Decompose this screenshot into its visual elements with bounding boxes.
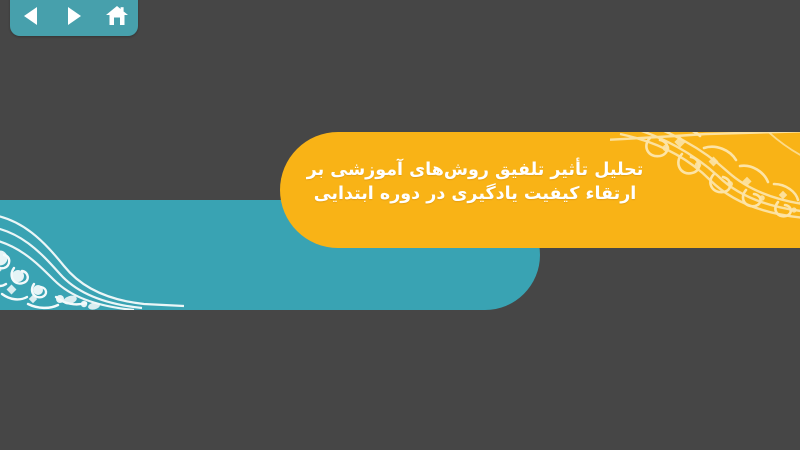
slide-title: تحلیل تأثیر تلفیق روش‌های آموزشی بر ارتق… — [300, 158, 650, 206]
slide-canvas: تحلیل تأثیر تلفیق روش‌های آموزشی بر ارتق… — [0, 0, 800, 450]
slide-title-line-2: ارتقاء کیفیت یادگیری در دوره ابتدایی — [300, 182, 650, 206]
navigation-bar — [10, 0, 138, 36]
triangle-left-icon — [22, 6, 40, 26]
home-button[interactable] — [102, 2, 132, 30]
triangle-right-icon — [65, 6, 83, 26]
teal-arabesque-ornament-icon — [0, 200, 184, 310]
home-icon — [105, 5, 129, 27]
previous-button[interactable] — [16, 2, 46, 30]
slide-title-line-1: تحلیل تأثیر تلفیق روش‌های آموزشی بر — [300, 158, 650, 182]
next-button[interactable] — [59, 2, 89, 30]
